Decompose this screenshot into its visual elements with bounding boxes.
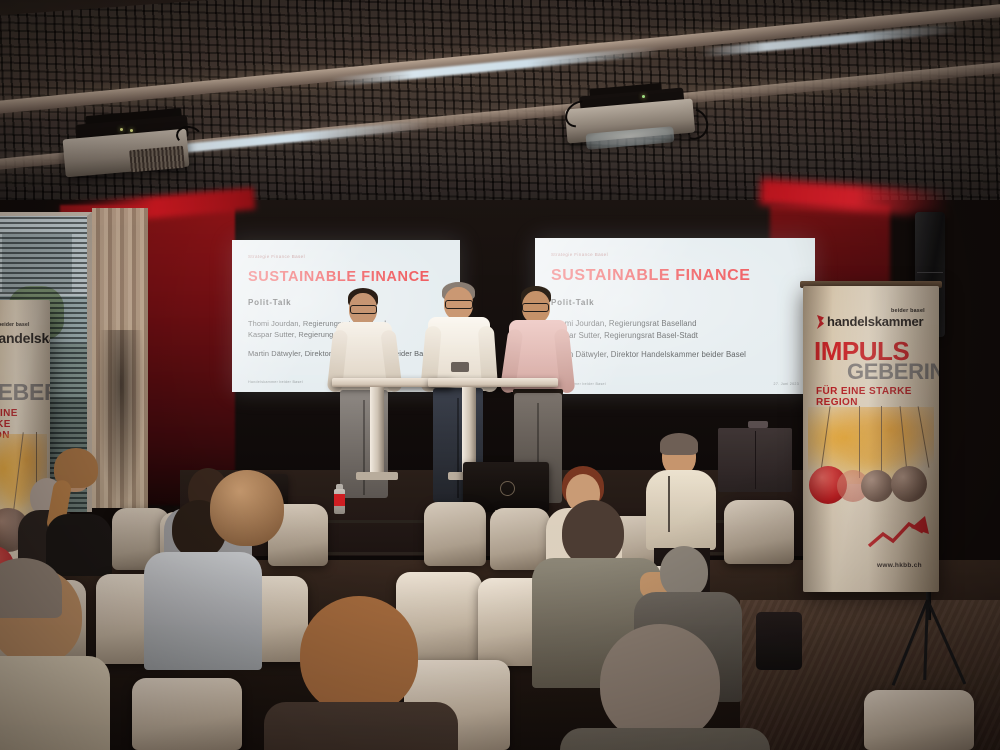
attendee-front-right-body: [560, 728, 770, 750]
speaker-left-glasses: [350, 305, 377, 314]
attendee-front-center-head: [300, 596, 418, 714]
standing-desk-left-column: [370, 387, 384, 475]
shoulder-bag: [756, 612, 802, 670]
attendee-woman-body: [46, 514, 112, 576]
rollup-banner-right: handelskammer beider basel IMPULS GEBERI…: [803, 286, 939, 592]
pa-speaker-tripod: [880, 600, 980, 690]
attendee-front-right-head: [600, 624, 720, 742]
screen-sheen-right: [535, 238, 815, 394]
attendee-front-center-body: [264, 702, 458, 750]
speaker-left: [330, 288, 400, 503]
attendee-mid-2-head: [562, 500, 624, 566]
conference-photo: Strategie Finance Basel SUSTAINABLE FINA…: [0, 0, 1000, 750]
attendee-mid-3-head: [660, 546, 708, 598]
attendee-bald-head: [210, 470, 284, 546]
chair-back-8: [724, 500, 794, 564]
attendee-standing-lanyard: [668, 476, 670, 532]
water-bottle: [334, 484, 345, 514]
attendee-front-left-body: [0, 656, 110, 750]
cabinet-top-object: [748, 421, 768, 428]
ceiling-projector-right: [558, 86, 708, 160]
curtain-shadow: [96, 330, 146, 510]
bottle-label: [334, 494, 345, 506]
attendee-mid-1-body: [144, 552, 262, 670]
attendee-standing-hair: [660, 433, 698, 455]
standing-desk-left-foot: [356, 472, 398, 480]
chair-front-1: [132, 678, 242, 750]
projection-screen-right: Strategie Finance Basel SUSTAINABLE FINA…: [535, 238, 815, 394]
speaker-right-glasses: [522, 303, 549, 312]
hp-logo-icon: [500, 481, 515, 496]
sideboard-cabinet: [718, 428, 792, 492]
chair-back-4: [424, 502, 486, 566]
speaker-center-handheld-notes: [451, 362, 469, 372]
speaker-center-glasses: [445, 300, 473, 309]
attendee-standing-shirt: [646, 470, 716, 550]
ceiling-projector-left: [58, 112, 208, 190]
chair-front-3: [864, 690, 974, 750]
standing-desk-right-top: [428, 378, 558, 387]
